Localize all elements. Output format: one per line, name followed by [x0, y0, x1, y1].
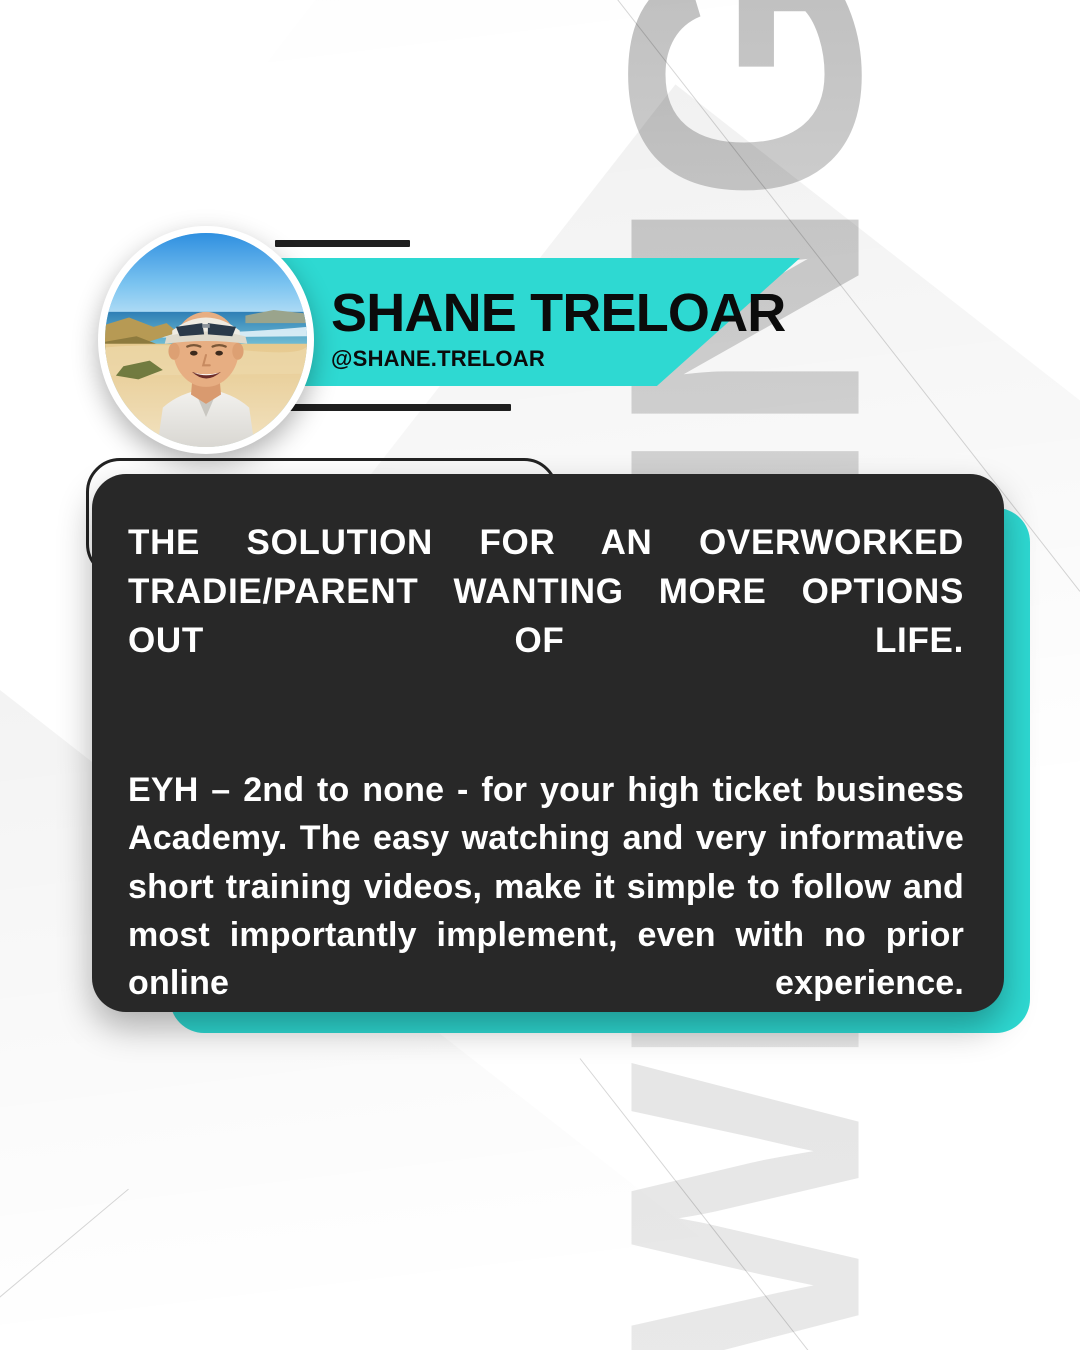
quote-card: THE SOLUTION FOR AN OVERWORKED TRADIE/PA…: [92, 474, 1004, 1012]
quote-body: EYH – 2nd to none - for your high ticket…: [128, 766, 964, 1056]
quote-headline: THE SOLUTION FOR AN OVERWORKED TRADIE/PA…: [128, 518, 964, 714]
testimonial-graphic: WINNING M: [0, 0, 1080, 1350]
quote-card-stack: THE SOLUTION FOR AN OVERWORKED TRADIE/PA…: [0, 0, 1080, 1350]
